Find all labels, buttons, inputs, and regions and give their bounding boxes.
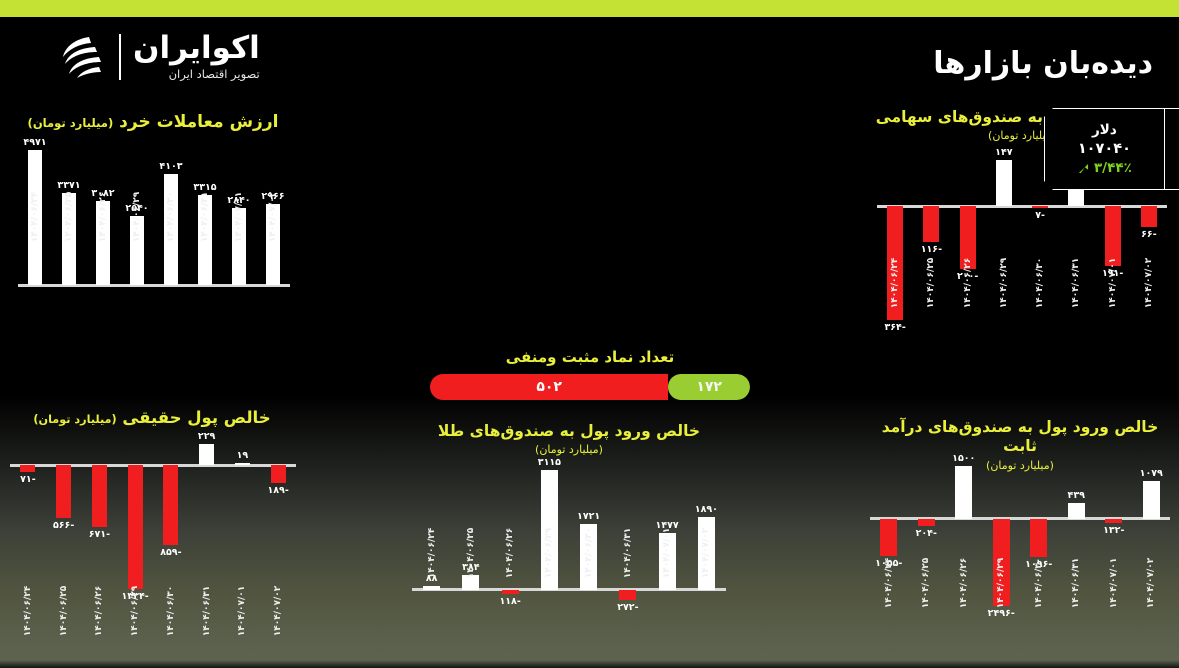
chart-bar-label: ۱۴۷ xyxy=(980,147,1028,158)
chart-bar[interactable] xyxy=(423,586,440,589)
chart-x-tick-label: ۱۴۰۴/۰۶/۲۴ xyxy=(890,255,900,311)
chart-bar[interactable] xyxy=(502,590,519,595)
chart-x-tick-label: ۱۴۰۴/۰۷/۰۲ xyxy=(701,525,711,581)
chart-x-tick-label: ۱۴۰۴/۰۶/۲۹ xyxy=(999,255,1009,311)
chart-fixed-plot: -۱۰۵۵۱۴۰۴/۰۶/۲۴-۲۰۴۱۴۰۴/۰۶/۲۵۱۵۰۰۱۴۰۴/۰۶… xyxy=(870,466,1170,606)
symbol-count-block: تعداد نماد مثبت ومنفی ۵۰۲ ۱۷۲ xyxy=(430,348,750,400)
chart-x-tick-label: ۱۴۰۴/۰۶/۳۰ xyxy=(1035,255,1045,311)
chart-axis-line xyxy=(10,464,296,467)
chart-bar-label: -۷ xyxy=(1016,210,1064,221)
chart-bar[interactable] xyxy=(1105,519,1122,524)
chart-axis-line xyxy=(877,205,1167,208)
chart-x-tick-label: ۱۴۰۴/۰۶/۲۵ xyxy=(64,189,74,245)
chart-bar-label: ۴۹۷۱ xyxy=(11,137,59,148)
chart-x-tick-label: ۱۴۰۴/۰۶/۲۶ xyxy=(959,555,969,611)
chart-bar-label: ۳۱۱۵ xyxy=(525,457,573,468)
chart-bar[interactable] xyxy=(1143,481,1160,519)
symbol-count-negative: ۵۰۲ xyxy=(430,374,668,400)
chart-bar[interactable] xyxy=(1032,206,1048,208)
chart-x-tick-label: ۱۴۰۴/۰۶/۲۶ xyxy=(505,525,515,581)
header-bar: اکوایران تصویر اقتصاد ایران دیده‌بان باز… xyxy=(0,17,1179,95)
chart-bar-label: -۳۶۴ xyxy=(871,322,919,333)
chart-retail-trade-value: ارزش معاملات خرد (میلیارد تومان) ۴۹۷۱۱۴۰… xyxy=(8,112,298,342)
stat-card-انس[interactable]: انس۳۷۴۵۰/۵۱٪ xyxy=(1164,109,1179,189)
chart-axis-line xyxy=(18,284,290,287)
symbol-count-positive: ۱۷۲ xyxy=(668,374,750,400)
chart-x-tick-label: ۱۴۰۴/۰۶/۲۶ xyxy=(98,189,108,245)
page-title: دیده‌بان بازارها xyxy=(933,46,1153,81)
chart-bar-label: -۸۵۹ xyxy=(147,547,195,558)
chart-bar[interactable] xyxy=(56,465,71,518)
logo-title: اکوایران xyxy=(133,33,260,64)
chart-bar-label: ۱۵۰۰ xyxy=(940,453,988,464)
chart-bar-label: ۱۷۲۱ xyxy=(565,511,613,522)
chart-bar[interactable] xyxy=(235,463,250,465)
chart-real-title: خالص پول حقیقی (میلیارد تومان) xyxy=(4,408,300,429)
stat-card-دلار[interactable]: دلار۱۰۷۰۴۰۳/۴۴٪ xyxy=(1045,109,1164,189)
chart-bar-label: -۱۳۲ xyxy=(1090,525,1138,536)
chart-bar[interactable] xyxy=(955,466,972,519)
chart-axis-line xyxy=(870,517,1170,520)
chart-x-tick-label: ۱۴۰۴/۰۶/۳۱ xyxy=(202,583,212,639)
symbol-count-title: تعداد نماد مثبت ومنفی xyxy=(430,348,750,366)
chart-bar-label: ۱۰۷۹ xyxy=(1127,468,1175,479)
chart-x-tick-label: ۱۴۰۴/۰۷/۰۲ xyxy=(1146,555,1156,611)
market-quotes-card-row: طلا ۱۸ عیار۹,۹۲۵,۲۰۰۲/۸۶٪سکه امامی۱۰۶,۹۸… xyxy=(1044,108,1179,190)
chart-bar[interactable] xyxy=(92,465,107,527)
chart-x-tick-label: ۱۴۰۴/۰۶/۳۰ xyxy=(584,525,594,581)
logo-subtitle: تصویر اقتصاد ایران xyxy=(133,69,260,81)
chart-x-tick-label: ۱۴۰۴/۰۷/۰۱ xyxy=(1108,255,1118,311)
chart-gold-funds-flow: خالص ورود پول به صندوق‌های طلا (میلیارد … xyxy=(404,422,734,662)
chart-retail-title: ارزش معاملات خرد (میلیارد تومان) xyxy=(8,112,298,133)
chart-x-tick-label: ۱۴۰۴/۰۶/۳۱ xyxy=(200,189,210,245)
chart-bar[interactable] xyxy=(619,590,636,600)
chart-gold-unit: (میلیارد تومان) xyxy=(404,443,734,456)
chart-bar-label: -۱۸۹ xyxy=(254,485,302,496)
stat-card-change: ۳/۴۴٪ xyxy=(1077,160,1132,176)
chart-x-tick-label: ۱۴۰۴/۰۶/۳۱ xyxy=(623,525,633,581)
chart-bar-label: ۱۸۹۰ xyxy=(682,504,730,515)
chart-bar-label: ۴۳۹ xyxy=(1052,490,1100,501)
chart-bar-label: -۶۷۱ xyxy=(75,529,123,540)
chart-bar[interactable] xyxy=(1068,503,1085,518)
chart-x-tick-label: ۱۴۰۴/۰۶/۲۵ xyxy=(466,525,476,581)
chart-x-tick-label: ۱۴۰۴/۰۷/۰۱ xyxy=(662,525,672,581)
chart-x-tick-label: ۱۴۰۴/۰۶/۲۶ xyxy=(94,583,104,639)
chart-axis-line xyxy=(412,588,726,591)
chart-x-tick-label: ۱۴۰۴/۰۷/۰۲ xyxy=(268,189,278,245)
chart-x-tick-label: ۱۴۰۴/۰۶/۲۴ xyxy=(884,555,894,611)
chart-bar-label: -۲۰۴ xyxy=(902,528,950,539)
chart-bar[interactable] xyxy=(1030,519,1047,557)
chart-x-tick-label: ۱۴۰۴/۰۶/۲۵ xyxy=(926,255,936,311)
chart-x-tick-label: ۱۴۰۴/۰۶/۲۶ xyxy=(963,255,973,311)
chart-x-tick-label: ۱۴۰۴/۰۶/۲۹ xyxy=(130,583,140,639)
chart-x-tick-label: ۱۴۰۴/۰۶/۲۴ xyxy=(23,583,33,639)
chart-bar-label: -۱۱۶ xyxy=(907,244,955,255)
chart-bar[interactable] xyxy=(923,206,939,242)
chart-x-tick-label: ۱۴۰۴/۰۶/۲۵ xyxy=(59,583,69,639)
chart-x-tick-label: ۱۴۰۴/۰۶/۲۹ xyxy=(996,555,1006,611)
chart-bar[interactable] xyxy=(996,160,1012,206)
logo: اکوایران تصویر اقتصاد ایران xyxy=(55,31,260,83)
chart-bar[interactable] xyxy=(271,465,286,483)
chart-x-tick-label: ۱۴۰۴/۰۷/۰۲ xyxy=(273,583,283,639)
chart-x-tick-label: ۱۴۰۴/۰۶/۳۱ xyxy=(1071,555,1081,611)
chart-fixed-title: خالص ورود پول به صندوق‌های درآمد ثابت xyxy=(864,418,1176,457)
stat-card-title: دلار xyxy=(1092,122,1117,138)
chart-bar[interactable] xyxy=(1141,206,1157,227)
eco-iran-logo-icon xyxy=(55,31,107,83)
chart-x-tick-label: ۱۴۰۴/۰۷/۰۱ xyxy=(1109,555,1119,611)
arrow-up-icon xyxy=(1077,162,1090,175)
chart-bar[interactable] xyxy=(880,519,897,556)
symbol-count-bar: ۵۰۲ ۱۷۲ xyxy=(430,374,750,400)
chart-bar-label: -۱۱۸ xyxy=(486,596,534,607)
chart-x-tick-label: ۱۴۰۴/۰۶/۳۰ xyxy=(166,189,176,245)
chart-x-tick-label: ۱۴۰۴/۰۷/۰۲ xyxy=(1144,255,1154,311)
chart-bar[interactable] xyxy=(199,444,214,465)
stat-card-value: ۱۰۷۰۴۰ xyxy=(1078,141,1131,157)
chart-x-tick-label: ۱۴۰۴/۰۷/۰۱ xyxy=(234,189,244,245)
logo-text: اکوایران تصویر اقتصاد ایران xyxy=(133,33,260,81)
chart-real-money-flow: خالص پول حقیقی (میلیارد تومان) -۷۱۱۴۰۴/۰… xyxy=(4,408,300,658)
dashboard-root: اکوایران تصویر اقتصاد ایران دیده‌بان باز… xyxy=(0,0,1179,668)
chart-x-tick-label: ۱۴۰۴/۰۷/۰۱ xyxy=(237,583,247,639)
chart-bar[interactable] xyxy=(918,519,935,526)
chart-x-tick-label: ۱۴۰۴/۰۶/۳۱ xyxy=(1071,255,1081,311)
chart-gold-plot: ۸۸۱۴۰۴/۰۶/۲۴۳۸۴۱۴۰۴/۰۶/۲۵-۱۱۸۱۴۰۴/۰۶/۲۶۳… xyxy=(412,470,726,600)
accent-topbar xyxy=(0,0,1179,17)
chart-bar-label: -۲۷۲ xyxy=(604,602,652,613)
chart-x-tick-label: ۱۴۰۴/۰۶/۳۰ xyxy=(166,583,176,639)
chart-retail-plot: ۴۹۷۱۱۴۰۴/۰۶/۲۴۳۳۷۱۱۴۰۴/۰۶/۲۵۳۰۸۲۱۴۰۴/۰۶/… xyxy=(18,150,290,285)
chart-bar-label: -۷۱ xyxy=(4,474,52,485)
chart-bar[interactable] xyxy=(128,465,143,589)
logo-divider xyxy=(119,34,121,80)
chart-bar-label: ۲۲۹ xyxy=(183,431,231,442)
chart-x-tick-label: ۱۴۰۴/۰۶/۳۰ xyxy=(1034,555,1044,611)
chart-fixed-income-funds-flow: خالص ورود پول به صندوق‌های درآمد ثابت (م… xyxy=(864,418,1176,663)
chart-bar[interactable] xyxy=(163,465,178,545)
chart-bar-label: ۱۹ xyxy=(218,450,266,461)
chart-gold-title: خالص ورود پول به صندوق‌های طلا xyxy=(404,422,734,441)
chart-x-tick-label: ۱۴۰۴/۰۶/۲۴ xyxy=(427,525,437,581)
chart-bar-label: -۶۶ xyxy=(1125,229,1173,240)
chart-x-tick-label: ۱۴۰۴/۰۶/۲۵ xyxy=(921,555,931,611)
chart-real-plot: -۷۱۱۴۰۴/۰۶/۲۴-۵۶۶۱۴۰۴/۰۶/۲۵-۶۷۱۱۴۰۴/۰۶/۲… xyxy=(10,444,296,589)
chart-bar[interactable] xyxy=(20,465,35,472)
chart-x-tick-label: ۱۴۰۴/۰۶/۲۹ xyxy=(132,189,142,245)
chart-x-tick-label: ۱۴۰۴/۰۶/۲۴ xyxy=(30,189,40,245)
chart-x-tick-label: ۱۴۰۴/۰۶/۲۹ xyxy=(544,525,554,581)
chart-bar-label: ۴۱۰۳ xyxy=(147,161,195,172)
